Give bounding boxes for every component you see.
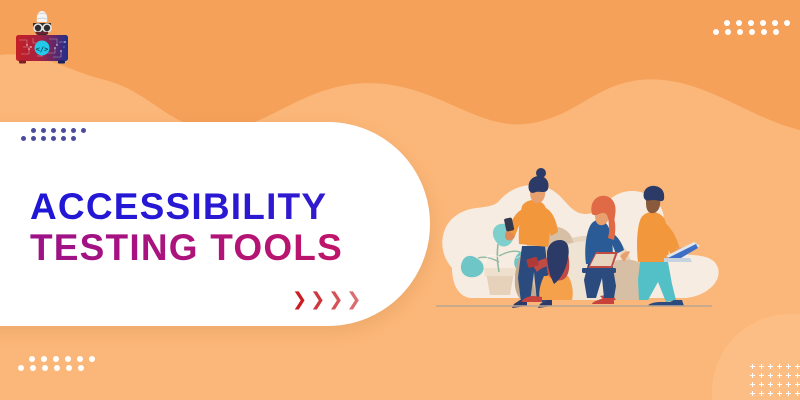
dot	[54, 365, 60, 371]
plus-icon	[793, 389, 800, 398]
dot	[71, 136, 76, 141]
dot	[784, 20, 790, 26]
chevron-arrows: ❯ ❯ ❯ ❯	[292, 291, 361, 309]
plus-icon	[757, 371, 766, 380]
dot	[31, 128, 36, 133]
plus-icon	[766, 371, 775, 380]
plus-icon	[784, 371, 793, 380]
decorative-dots-panel	[21, 128, 91, 141]
dot	[29, 356, 35, 362]
dot	[31, 136, 36, 141]
dot	[725, 29, 731, 35]
plus-icon	[793, 380, 800, 389]
plus-icon	[775, 371, 784, 380]
headline-line-2: TESTING TOOLS	[30, 227, 410, 268]
dot	[773, 29, 779, 35]
dot-row	[29, 356, 101, 362]
dot	[748, 20, 754, 26]
dot	[30, 365, 36, 371]
dot	[42, 365, 48, 371]
dot-row	[18, 365, 101, 371]
plus-icon	[784, 362, 793, 371]
dot	[760, 20, 766, 26]
chevron-right-icon: ❯	[292, 291, 307, 309]
plus-icon	[748, 362, 757, 371]
plus-icon	[748, 380, 757, 389]
dot	[61, 128, 66, 133]
plus-icon	[757, 380, 766, 389]
chevron-right-icon: ❯	[328, 291, 343, 309]
dot	[41, 136, 46, 141]
dot	[736, 20, 742, 26]
dot	[18, 365, 24, 371]
dot	[41, 356, 47, 362]
dot-row	[31, 128, 91, 133]
toolbox-logo[interactable]: </>	[13, 9, 71, 64]
plus-icon	[757, 389, 766, 398]
dot	[81, 128, 86, 133]
dot-row	[713, 29, 796, 35]
dot	[51, 128, 56, 133]
plus-icon	[748, 371, 757, 380]
plus-icon	[748, 389, 757, 398]
foot-left	[19, 61, 26, 64]
plus-icon	[775, 362, 784, 371]
plus-icon	[766, 389, 775, 398]
dot	[71, 128, 76, 133]
plus-icon	[784, 389, 793, 398]
dot	[77, 356, 83, 362]
accessibility-testing-tools-banner: </> ACCESSIBILITY TESTING TOOLS	[0, 0, 800, 400]
plus-icon	[766, 380, 775, 389]
dot	[51, 136, 56, 141]
dot	[749, 29, 755, 35]
chevron-right-icon: ❯	[346, 291, 361, 309]
decorative-dots-bottom-left	[18, 356, 101, 371]
plus-icon	[793, 362, 800, 371]
dot	[761, 29, 767, 35]
plus-icon	[766, 362, 775, 371]
headline-line-1: ACCESSIBILITY	[30, 186, 410, 227]
dot	[53, 356, 59, 362]
plus-icon	[775, 389, 784, 398]
dot	[41, 128, 46, 133]
dot	[89, 356, 95, 362]
dot	[724, 20, 730, 26]
dot	[21, 136, 26, 141]
page-title: ACCESSIBILITY TESTING TOOLS	[30, 186, 410, 268]
code-badge-label: </>	[36, 45, 49, 53]
foot-right	[58, 61, 65, 64]
plus-icon	[757, 362, 766, 371]
decorative-plus-grid	[748, 362, 800, 398]
plus-icon	[793, 371, 800, 380]
plus-icon	[775, 380, 784, 389]
dot	[61, 136, 66, 141]
dot	[713, 29, 719, 35]
dot-row	[21, 136, 91, 141]
decorative-dots-top-right	[713, 20, 796, 35]
dot	[66, 365, 72, 371]
dot	[772, 20, 778, 26]
dot	[78, 365, 84, 371]
dot	[65, 356, 71, 362]
plus-icon	[784, 380, 793, 389]
dot	[737, 29, 743, 35]
dot-row	[724, 20, 796, 26]
chevron-right-icon: ❯	[310, 291, 325, 309]
